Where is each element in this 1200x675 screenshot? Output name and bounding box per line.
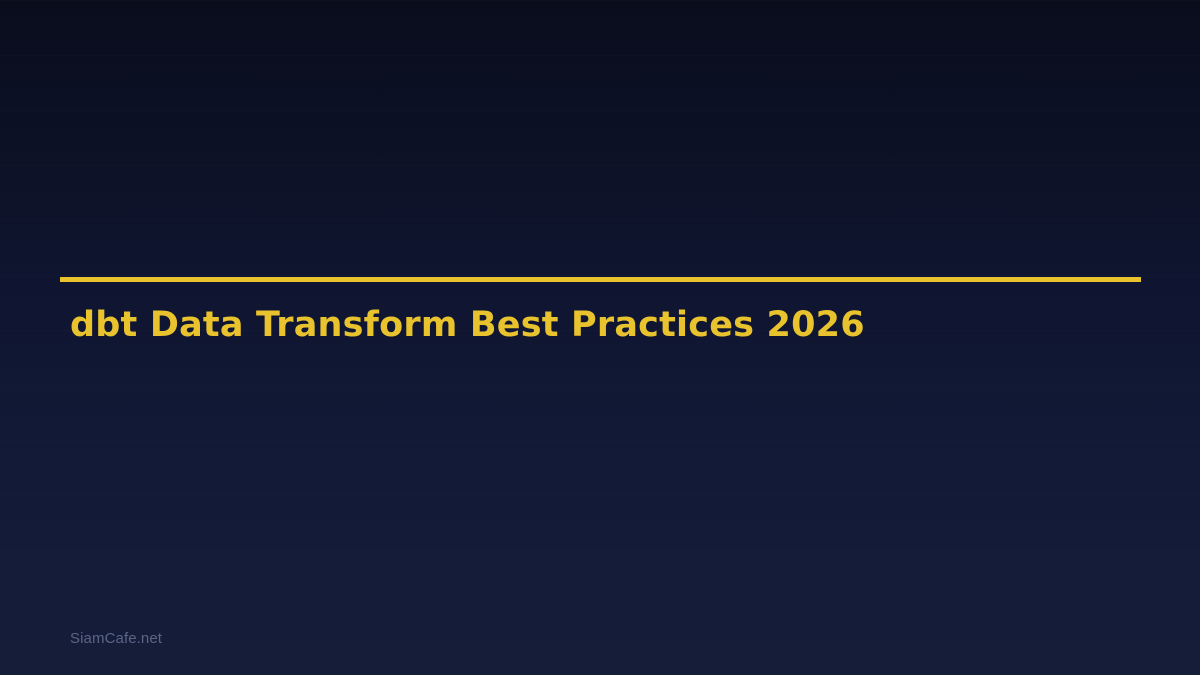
title-block: dbt Data Transform Best Practices 2026 — [60, 277, 1141, 282]
accent-rule — [60, 277, 1141, 282]
page-title: dbt Data Transform Best Practices 2026 — [70, 305, 865, 345]
slide-canvas: dbt Data Transform Best Practices 2026 S… — [0, 0, 1200, 675]
footer-watermark: SiamCafe.net — [70, 630, 162, 647]
